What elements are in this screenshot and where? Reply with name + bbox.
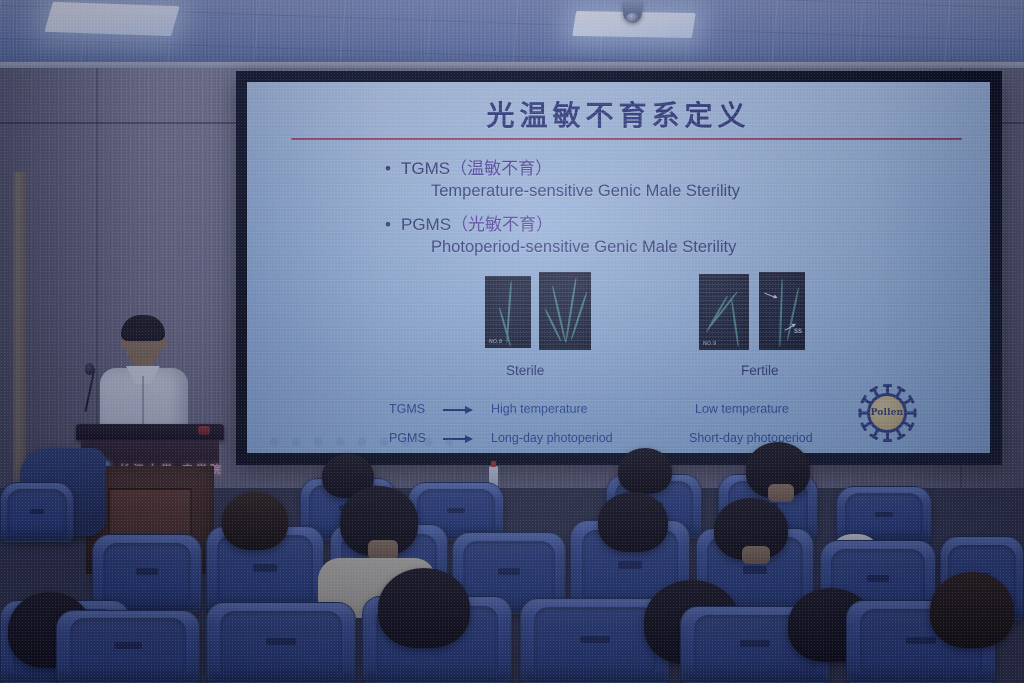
slide-surface: 光温敏不育系定义 •TGMS（温敏不育） Temperature-sensiti… xyxy=(247,82,990,453)
photo-fertile-b: SS xyxy=(759,272,805,350)
caption-fertile: Fertile xyxy=(741,363,779,378)
title-underline-rule xyxy=(291,138,962,140)
seat[interactable] xyxy=(56,610,200,683)
lecture-hall-photo: 光温敏不育系定义 •TGMS（温敏不育） Temperature-sensiti… xyxy=(0,0,1024,683)
speaker-shirt-placket xyxy=(142,376,144,426)
caption-sterile: Sterile xyxy=(506,363,544,378)
photo-tag-no8: NO.8 xyxy=(489,339,502,345)
pollen-label: Pollen xyxy=(871,408,904,418)
microphone-icon xyxy=(85,363,94,375)
bullet-tgms-expansion: Temperature-sensitive Genic Male Sterili… xyxy=(431,182,740,201)
pollen-grain-icon: Pollen xyxy=(858,384,916,442)
photo-tag-no9: NO.9 xyxy=(703,341,716,347)
podium-control-button[interactable] xyxy=(198,426,210,435)
bullet-tgms: •TGMS（温敏不育） xyxy=(385,154,552,179)
bullet-marker: • xyxy=(385,215,401,235)
projection-screen: 光温敏不育系定义 •TGMS（温敏不育） Temperature-sensiti… xyxy=(236,71,1002,465)
photo-sterile-a: NO.8 xyxy=(485,276,531,348)
dome-camera-icon xyxy=(623,0,642,22)
audience-head xyxy=(930,572,1014,648)
bullet-marker: • xyxy=(385,159,401,179)
audience-neck xyxy=(768,484,794,502)
seat[interactable] xyxy=(0,482,74,542)
photo-sterile-b xyxy=(539,272,591,350)
mech-row-type-tgms: TGMS xyxy=(389,402,425,416)
audience-head xyxy=(378,568,470,648)
bullet-label-tgms: TGMS xyxy=(401,159,450,178)
speaker-hair xyxy=(121,315,165,341)
audience-head xyxy=(222,492,288,550)
slide-title: 光温敏不育系定义 xyxy=(247,94,990,134)
audience-neck xyxy=(368,540,398,560)
bullet-label-pgms: PGMS xyxy=(401,215,451,234)
audience-area xyxy=(0,440,1024,683)
seat[interactable] xyxy=(206,602,356,683)
audience-neck xyxy=(742,546,770,564)
bullet-pgms: •PGMS（光敏不育） xyxy=(385,210,553,235)
bullet-pgms-expansion: Photoperiod-sensitive Genic Male Sterili… xyxy=(431,238,736,257)
ceiling-light-panel-left xyxy=(44,2,179,36)
annotation-ss: SS xyxy=(794,329,802,335)
audience-head xyxy=(598,492,668,552)
mech-fertile-tgms: Low temperature xyxy=(695,402,789,416)
mech-sterile-tgms: High temperature xyxy=(491,402,588,416)
bullet-chinese-pgms: （光敏不育） xyxy=(451,215,553,235)
bullet-chinese-tgms: （温敏不育） xyxy=(450,159,552,179)
mech-arrow-tgms xyxy=(443,409,471,411)
photo-fertile-a: NO.9 xyxy=(699,274,749,350)
audience-head xyxy=(618,448,672,494)
